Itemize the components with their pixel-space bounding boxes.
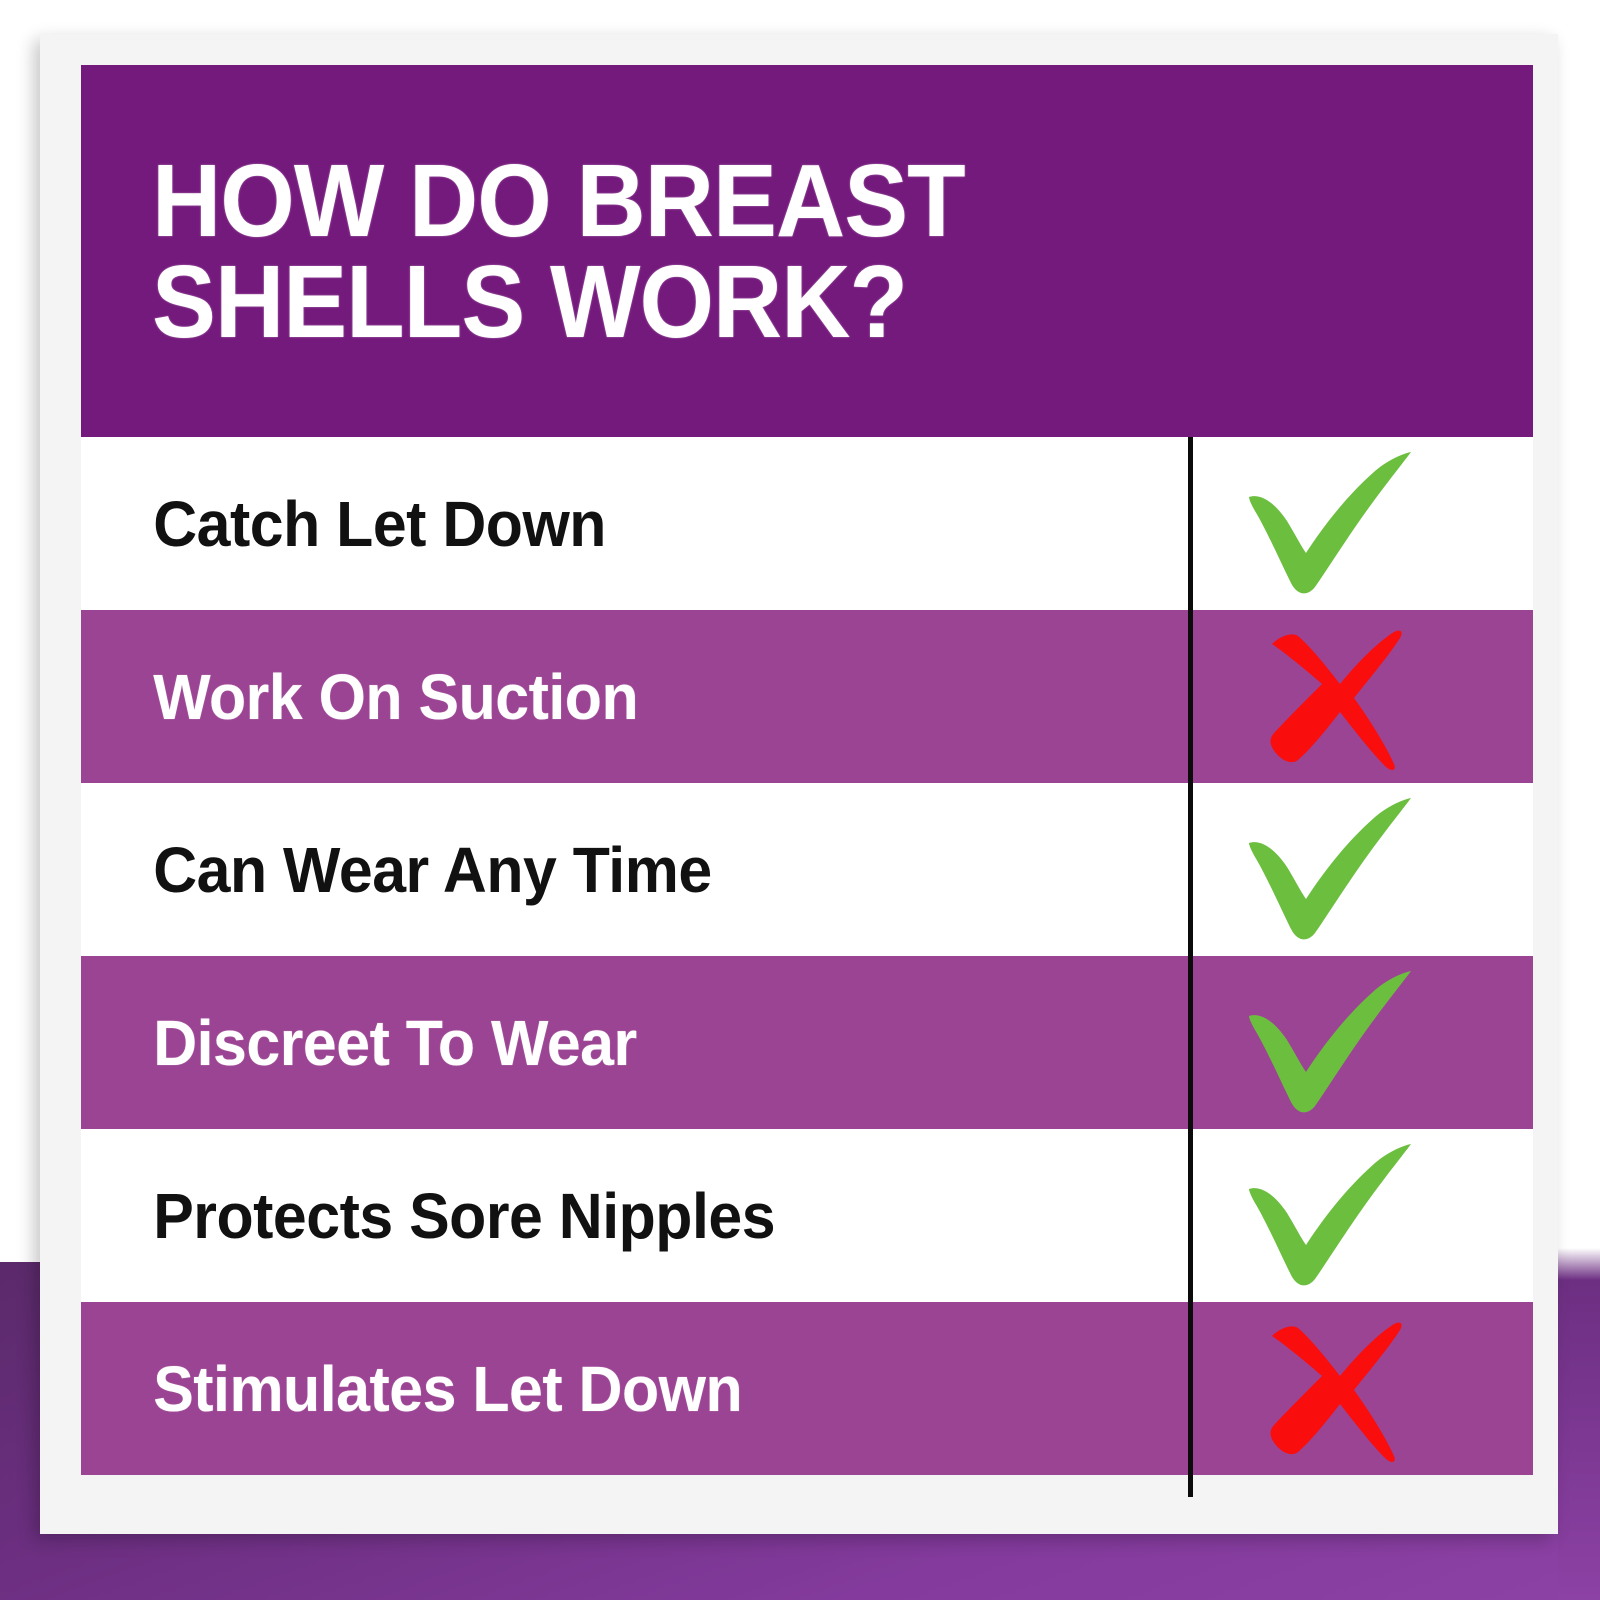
cross-icon-svg [1248, 622, 1413, 772]
row-label: Can Wear Any Time [81, 833, 1075, 907]
check-icon-svg [1235, 449, 1425, 599]
table-row: Protects Sore Nipples [81, 1129, 1533, 1302]
check-icon-svg [1235, 795, 1425, 945]
row-label: Catch Let Down [81, 487, 1075, 561]
check-icon-svg [1235, 1141, 1425, 1291]
infographic-card: HOW DO BREAST SHELLS WORK? Catch Let Dow… [40, 34, 1558, 1534]
table-column-divider [1188, 437, 1193, 1497]
row-label: Discreet To Wear [81, 1006, 1075, 1080]
row-label: Work On Suction [81, 660, 1075, 734]
backdrop-purple-band-right [1558, 0, 1600, 1600]
check-icon-svg [1235, 968, 1425, 1118]
cross-icon-svg [1248, 1314, 1413, 1464]
row-label: Protects Sore Nipples [81, 1179, 1075, 1253]
row-label: Stimulates Let Down [81, 1352, 1075, 1426]
table-row: Stimulates Let Down [81, 1302, 1533, 1475]
table-row: Catch Let Down [81, 437, 1533, 610]
page-title: HOW DO BREAST SHELLS WORK? [152, 151, 1380, 353]
table-row: Can Wear Any Time [81, 783, 1533, 956]
table-row: Discreet To Wear [81, 956, 1533, 1129]
table-row: Work On Suction [81, 610, 1533, 783]
comparison-table: Catch Let DownWork On SuctionCan Wear An… [81, 437, 1533, 1497]
infographic-header: HOW DO BREAST SHELLS WORK? [81, 65, 1533, 437]
